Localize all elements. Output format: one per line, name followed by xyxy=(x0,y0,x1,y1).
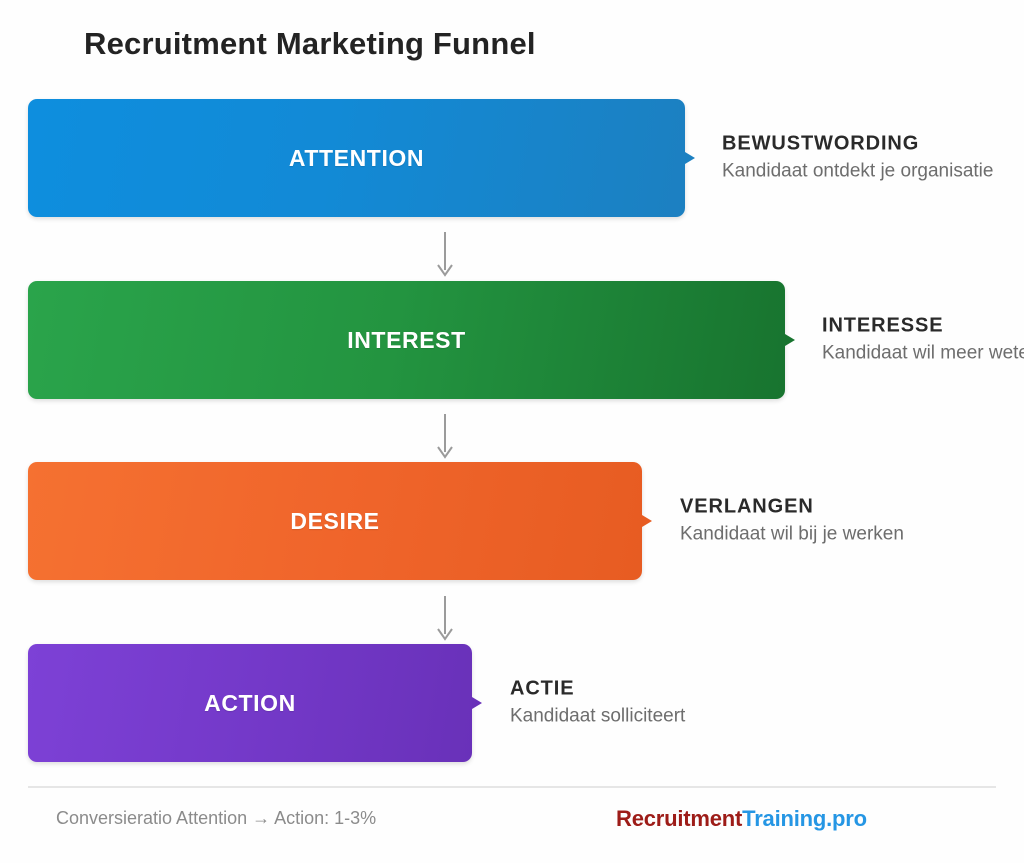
stage-description-title: ACTIE xyxy=(510,677,830,700)
stage-description-title: VERLANGEN xyxy=(680,495,1024,518)
funnel-stage-attention[interactable]: ATTENTION BEWUSTWORDING Kandidaat ontdek… xyxy=(28,99,685,217)
funnel-stage-action[interactable]: ACTION ACTIE Kandidaat solliciteert xyxy=(28,644,472,762)
stage-bar-attention[interactable]: ATTENTION xyxy=(28,99,685,217)
funnel-diagram-canvas: Recruitment Marketing Funnel ATTENTION B… xyxy=(0,0,1024,863)
stage-description-text: Kandidaat wil bij je werken xyxy=(680,522,1024,546)
stage-description-text: Kandidaat wil meer weten xyxy=(822,341,1024,365)
down-arrow-icon-2 xyxy=(434,414,456,462)
stage-bar-label: ATTENTION xyxy=(28,145,685,172)
stage-description-interest: INTERESSE Kandidaat wil meer weten xyxy=(822,314,1024,365)
down-arrow-icon-3 xyxy=(434,596,456,644)
stage-connector-nub-icon xyxy=(642,515,652,527)
stage-description-attention: BEWUSTWORDING Kandidaat ontdekt je organ… xyxy=(722,132,1022,183)
stage-description-text: Kandidaat ontdekt je organisatie xyxy=(722,159,1022,183)
stage-connector-nub-icon xyxy=(685,152,695,164)
stage-connector-nub-icon xyxy=(472,697,482,709)
stage-connector-nub-icon xyxy=(785,334,795,346)
stage-bar-action[interactable]: ACTION xyxy=(28,644,472,762)
stage-bar-label: DESIRE xyxy=(28,508,642,535)
brand-logo-part1: Recruitment xyxy=(616,806,742,831)
stage-description-title: BEWUSTWORDING xyxy=(722,132,1022,155)
stage-bar-label: INTEREST xyxy=(28,327,785,354)
stage-bar-label: ACTION xyxy=(28,690,472,717)
stage-description-desire: VERLANGEN Kandidaat wil bij je werken xyxy=(680,495,1024,546)
brand-logo[interactable]: RecruitmentTraining.pro xyxy=(616,806,867,832)
down-arrow-icon-1 xyxy=(434,232,456,280)
stage-bar-desire[interactable]: DESIRE xyxy=(28,462,642,580)
stage-description-text: Kandidaat solliciteert xyxy=(510,704,830,728)
footer-divider xyxy=(28,786,996,788)
funnel-stage-desire[interactable]: DESIRE VERLANGEN Kandidaat wil bij je we… xyxy=(28,462,642,580)
conversion-ratio-note: Conversieratio Attention → Action: 1-3% xyxy=(56,808,376,829)
stage-description-action: ACTIE Kandidaat solliciteert xyxy=(510,677,830,728)
stage-description-title: INTERESSE xyxy=(822,314,1024,337)
brand-logo-part2: Training.pro xyxy=(742,806,867,831)
funnel-stages: ATTENTION BEWUSTWORDING Kandidaat ontdek… xyxy=(0,0,1024,770)
funnel-stage-interest[interactable]: INTEREST INTERESSE Kandidaat wil meer we… xyxy=(28,281,785,399)
stage-bar-interest[interactable]: INTEREST xyxy=(28,281,785,399)
